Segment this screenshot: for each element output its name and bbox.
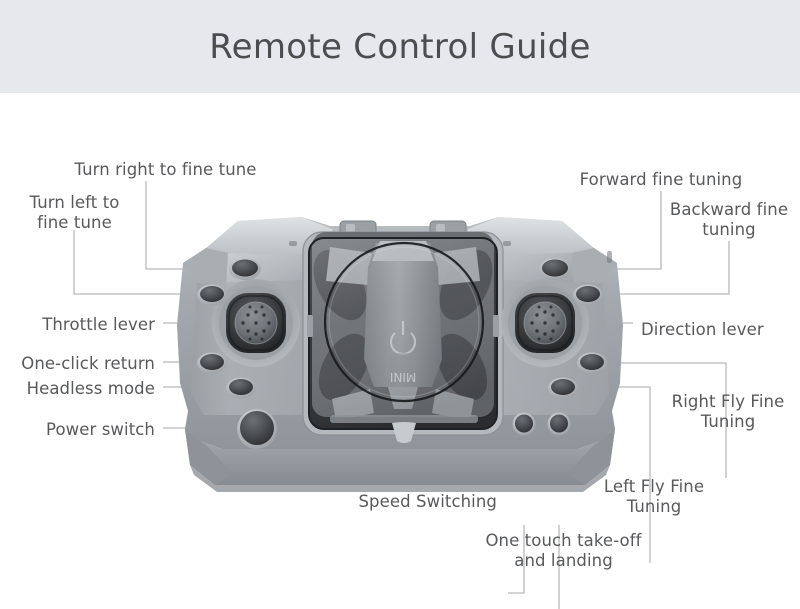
button-turn-left-fine-tune[interactable] [197,285,227,306]
callout-one-click-return: One-click return [0,354,155,374]
button-forward-fine-tuning[interactable] [539,258,571,280]
right-top-notch [503,241,511,246]
button-headless-mode[interactable] [226,378,256,399]
left-top-notch [289,241,297,246]
button-power-switch[interactable] [237,409,277,449]
callout-power-switch: Power switch [0,420,155,440]
callout-one-touch-takeoff-landing: One touch take-off and landing [466,531,661,571]
button-one-touch-takeoff-landing[interactable] [548,413,571,436]
callout-turn-left-fine-tune: Turn left to fine tune [17,193,132,233]
callout-throttle-lever: Throttle lever [0,315,155,335]
callout-left-fly-fine-tuning: Left Fly Fine Tuning [593,477,715,517]
callout-right-fly-fine-tuning: Right Fly Fine Tuning [663,392,793,432]
callout-backward-fine-tuning: Backward fine tuning [665,200,793,240]
drone-storage-bay: MINI [303,221,504,443]
button-speed-switching[interactable] [513,413,536,436]
button-left-fly-fine-tuning[interactable] [548,378,578,399]
callout-speed-switching: Speed Switching [330,492,497,512]
guide-page: Remote Control Guide [0,0,800,609]
button-one-click-return[interactable] [197,353,227,374]
page-header: Remote Control Guide [0,0,800,93]
callout-direction-lever: Direction lever [641,320,800,340]
callout-forward-fine-tuning: Forward fine tuning [573,170,749,190]
right-edge-notch [607,251,612,263]
button-backward-fine-tuning[interactable] [573,285,603,306]
callout-headless-mode: Headless mode [0,379,155,399]
button-turn-right-fine-tune[interactable] [229,258,261,280]
callout-turn-right-fine-tune: Turn right to fine tune [63,160,268,180]
button-right-fly-fine-tuning[interactable] [577,353,607,374]
page-title: Remote Control Guide [0,0,800,93]
